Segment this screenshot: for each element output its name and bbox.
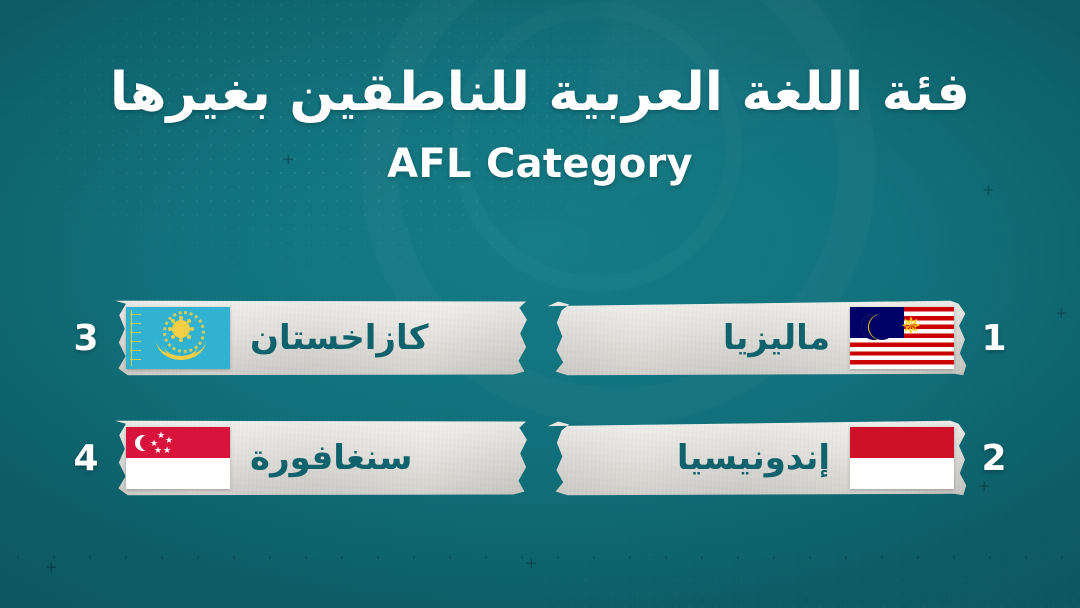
- country-name: إندونيسيا: [677, 441, 830, 475]
- ranking-entry-kazakhstan[interactable]: 3 كازاخستان: [62, 288, 532, 388]
- tape-strip: إندونيسيا: [548, 420, 970, 496]
- flag-kazakhstan-icon: [126, 307, 230, 369]
- plus-mark-icon: +: [45, 560, 58, 575]
- tape-strip: ✵ ماليزيا: [548, 300, 970, 376]
- ranking-entry-singapore[interactable]: 4 ★ ★ ★ ★ ★ سنغافورة: [62, 408, 532, 508]
- header: فئة اللغة العربية للناطقين بغيرها AFL Ca…: [0, 62, 1080, 187]
- flag-malaysia-icon: ✵: [850, 307, 954, 369]
- page-title-english: AFL Category: [0, 141, 1080, 187]
- tape-strip: ★ ★ ★ ★ ★ سنغافورة: [110, 420, 532, 496]
- ranking-board: ✵ ماليزيا 1 إندونيسيا 2 3: [0, 270, 1080, 510]
- tape-strip: كازاخستان: [110, 300, 532, 376]
- ranking-entry-malaysia[interactable]: ✵ ماليزيا 1: [548, 288, 1018, 388]
- rank-number: 2: [970, 438, 1018, 479]
- rank-number: 4: [62, 438, 110, 479]
- page-title-arabic: فئة اللغة العربية للناطقين بغيرها: [0, 62, 1080, 125]
- rank-number: 3: [62, 318, 110, 359]
- rank-number: 1: [970, 318, 1018, 359]
- ranking-entry-indonesia[interactable]: إندونيسيا 2: [548, 408, 1018, 508]
- country-name: كازاخستان: [250, 321, 429, 355]
- flag-indonesia-icon: [850, 427, 954, 489]
- country-name: ماليزيا: [723, 321, 830, 355]
- country-name: سنغافورة: [250, 441, 413, 475]
- background-dotted-rule: [0, 556, 1080, 559]
- flag-singapore-icon: ★ ★ ★ ★ ★: [126, 427, 230, 489]
